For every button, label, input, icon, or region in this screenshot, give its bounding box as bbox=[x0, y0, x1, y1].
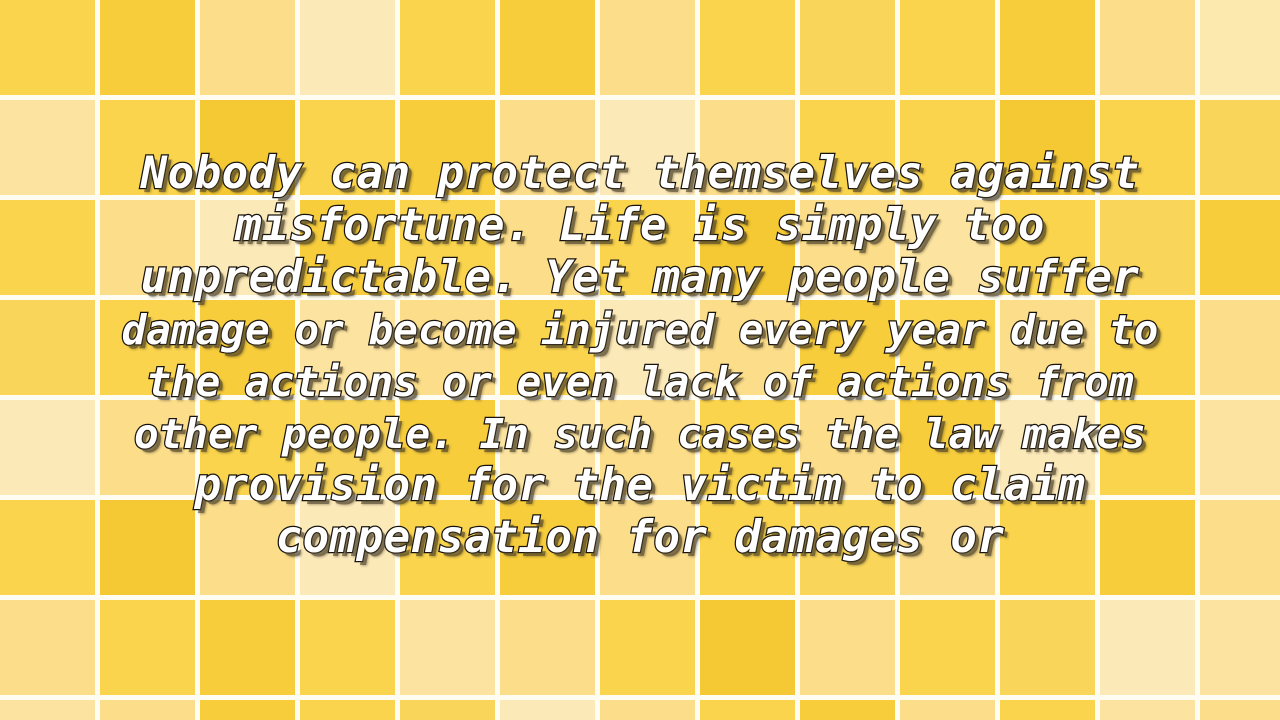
mosaic-tile bbox=[400, 200, 495, 295]
mosaic-tile bbox=[1100, 600, 1195, 695]
mosaic-tile bbox=[700, 0, 795, 95]
mosaic-tile bbox=[0, 500, 95, 595]
mosaic-tile bbox=[500, 0, 595, 95]
mosaic-tile bbox=[1000, 0, 1095, 95]
mosaic-tile bbox=[1000, 600, 1095, 695]
mosaic-tile bbox=[600, 200, 695, 295]
mosaic-tile bbox=[300, 200, 395, 295]
mosaic-tile bbox=[700, 100, 795, 195]
mosaic-tile bbox=[300, 700, 395, 720]
mosaic-tile bbox=[1000, 500, 1095, 595]
mosaic-tile bbox=[500, 600, 595, 695]
mosaic-tile bbox=[1000, 100, 1095, 195]
mosaic-tile bbox=[1200, 200, 1280, 295]
mosaic-tile bbox=[0, 700, 95, 720]
mosaic-tile bbox=[600, 300, 695, 395]
mosaic-tile bbox=[1200, 500, 1280, 595]
mosaic-tile bbox=[200, 300, 295, 395]
mosaic-tile bbox=[1000, 200, 1095, 295]
mosaic-tile bbox=[400, 600, 495, 695]
mosaic-tile bbox=[600, 700, 695, 720]
mosaic-tile bbox=[1000, 300, 1095, 395]
mosaic-tile bbox=[700, 200, 795, 295]
mosaic-tile bbox=[600, 400, 695, 495]
mosaic-tile bbox=[1200, 700, 1280, 720]
mosaic-tile bbox=[1200, 0, 1280, 95]
mosaic-tile bbox=[800, 700, 895, 720]
mosaic-tile bbox=[600, 600, 695, 695]
mosaic-tile bbox=[900, 200, 995, 295]
mosaic-tile bbox=[500, 700, 595, 720]
mosaic-tile bbox=[400, 500, 495, 595]
mosaic-tile bbox=[100, 100, 195, 195]
mosaic-tile bbox=[400, 700, 495, 720]
mosaic-tile bbox=[100, 0, 195, 95]
mosaic-tile bbox=[100, 400, 195, 495]
mosaic-tile bbox=[1100, 400, 1195, 495]
mosaic-tile bbox=[700, 400, 795, 495]
mosaic-tile bbox=[0, 200, 95, 295]
mosaic-tile bbox=[400, 100, 495, 195]
mosaic-tile bbox=[200, 700, 295, 720]
mosaic-tile bbox=[800, 400, 895, 495]
mosaic-tile bbox=[200, 0, 295, 95]
mosaic-tile bbox=[900, 700, 995, 720]
mosaic-tile bbox=[1100, 300, 1195, 395]
mosaic-tile bbox=[1200, 100, 1280, 195]
mosaic-tile bbox=[800, 300, 895, 395]
mosaic-tile bbox=[1200, 300, 1280, 395]
mosaic-tile bbox=[0, 400, 95, 495]
mosaic-tile bbox=[600, 0, 695, 95]
mosaic-tile bbox=[900, 600, 995, 695]
tile-mosaic-background bbox=[0, 0, 1280, 720]
mosaic-tile bbox=[300, 300, 395, 395]
mosaic-tile bbox=[200, 100, 295, 195]
mosaic-tile bbox=[300, 600, 395, 695]
mosaic-tile bbox=[100, 700, 195, 720]
mosaic-tile bbox=[500, 300, 595, 395]
mosaic-tile bbox=[800, 0, 895, 95]
mosaic-tile bbox=[0, 600, 95, 695]
mosaic-tile bbox=[900, 100, 995, 195]
quote-card: Nobody can protect themselves against mi… bbox=[0, 0, 1280, 720]
mosaic-tile bbox=[100, 500, 195, 595]
mosaic-tile bbox=[1100, 500, 1195, 595]
mosaic-tile bbox=[800, 100, 895, 195]
mosaic-tile bbox=[200, 200, 295, 295]
mosaic-tile bbox=[900, 300, 995, 395]
mosaic-tile bbox=[600, 500, 695, 595]
mosaic-tile bbox=[0, 0, 95, 95]
mosaic-tile bbox=[1100, 100, 1195, 195]
mosaic-tile bbox=[500, 100, 595, 195]
mosaic-tile bbox=[800, 200, 895, 295]
mosaic-tile bbox=[800, 500, 895, 595]
mosaic-tile bbox=[900, 0, 995, 95]
mosaic-tile bbox=[600, 100, 695, 195]
mosaic-tile bbox=[300, 100, 395, 195]
mosaic-tile bbox=[500, 500, 595, 595]
mosaic-tile bbox=[700, 600, 795, 695]
mosaic-tile bbox=[100, 600, 195, 695]
mosaic-tile bbox=[700, 300, 795, 395]
mosaic-tile bbox=[1100, 700, 1195, 720]
mosaic-tile bbox=[900, 400, 995, 495]
mosaic-tile bbox=[700, 500, 795, 595]
mosaic-tile bbox=[200, 400, 295, 495]
mosaic-tile bbox=[1100, 0, 1195, 95]
mosaic-tile bbox=[0, 100, 95, 195]
mosaic-tile bbox=[300, 400, 395, 495]
mosaic-tile bbox=[0, 300, 95, 395]
mosaic-tile bbox=[1000, 400, 1095, 495]
mosaic-tile bbox=[200, 600, 295, 695]
mosaic-tile bbox=[400, 400, 495, 495]
mosaic-tile bbox=[500, 200, 595, 295]
mosaic-tile bbox=[1100, 200, 1195, 295]
mosaic-tile bbox=[300, 500, 395, 595]
mosaic-tile bbox=[1000, 700, 1095, 720]
mosaic-tile bbox=[1200, 400, 1280, 495]
mosaic-tile bbox=[800, 600, 895, 695]
mosaic-tile bbox=[100, 300, 195, 395]
mosaic-tile bbox=[200, 500, 295, 595]
mosaic-tile bbox=[400, 300, 495, 395]
mosaic-tile bbox=[1200, 600, 1280, 695]
mosaic-tile bbox=[700, 700, 795, 720]
mosaic-tile bbox=[900, 500, 995, 595]
mosaic-tile bbox=[400, 0, 495, 95]
mosaic-tile bbox=[300, 0, 395, 95]
mosaic-tile bbox=[100, 200, 195, 295]
mosaic-tile bbox=[500, 400, 595, 495]
